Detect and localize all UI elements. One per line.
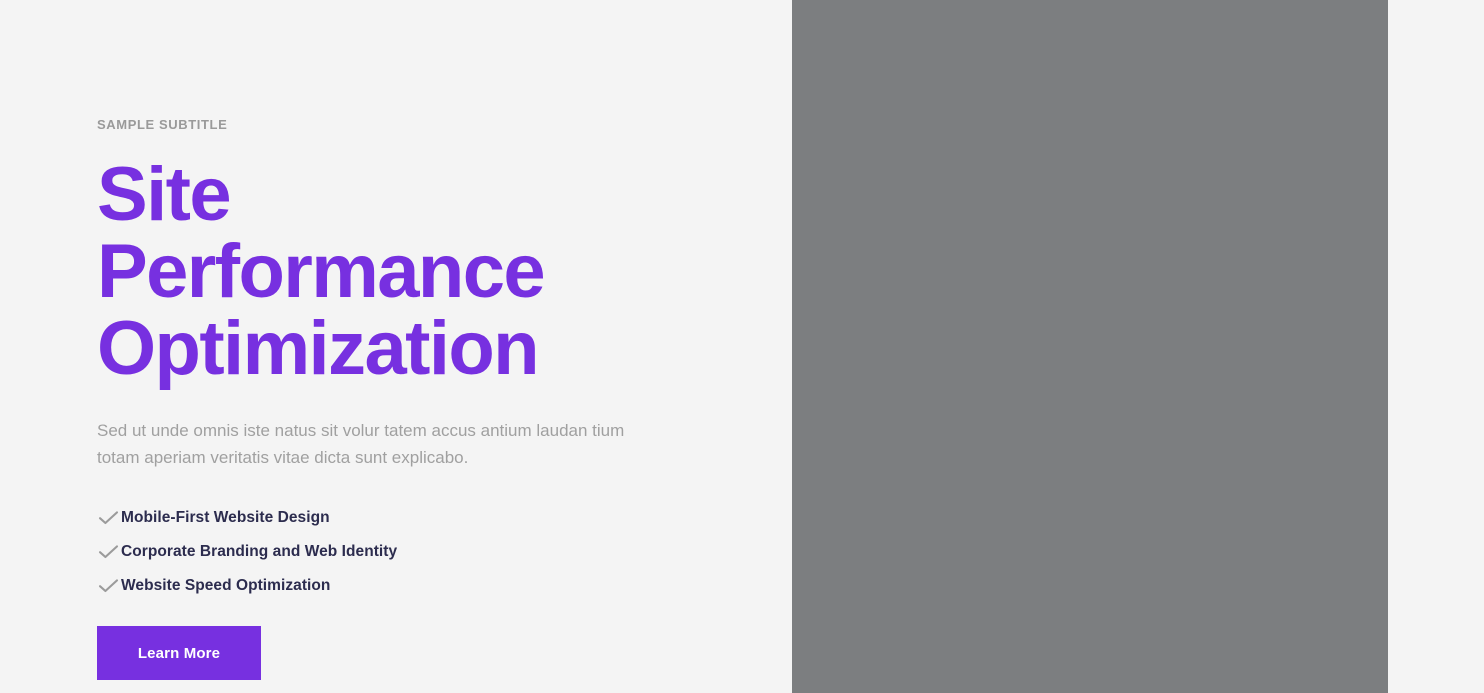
feature-label: Corporate Branding and Web Identity <box>121 542 397 562</box>
list-item: Website Speed Optimization <box>97 569 697 603</box>
check-icon <box>97 510 121 526</box>
feature-label: Website Speed Optimization <box>121 576 330 596</box>
check-icon <box>97 544 121 560</box>
hero-subtitle: SAMPLE SUBTITLE <box>97 0 697 133</box>
feature-list: Mobile-First Website Design Corporate Br… <box>97 471 697 603</box>
feature-label: Mobile-First Website Design <box>121 508 330 528</box>
list-item: Mobile-First Website Design <box>97 501 697 535</box>
hero-image-placeholder <box>792 0 1388 693</box>
learn-more-button[interactable]: Learn More <box>97 626 261 680</box>
hero-description: Sed ut unde omnis iste natus sit volur t… <box>97 387 662 471</box>
hero-content: SAMPLE SUBTITLE Site Performance Optimiz… <box>97 0 697 680</box>
page-title: Site Performance Optimization <box>97 133 677 387</box>
hero-section: SAMPLE SUBTITLE Site Performance Optimiz… <box>0 0 1484 693</box>
list-item: Corporate Branding and Web Identity <box>97 535 697 569</box>
check-icon <box>97 578 121 594</box>
